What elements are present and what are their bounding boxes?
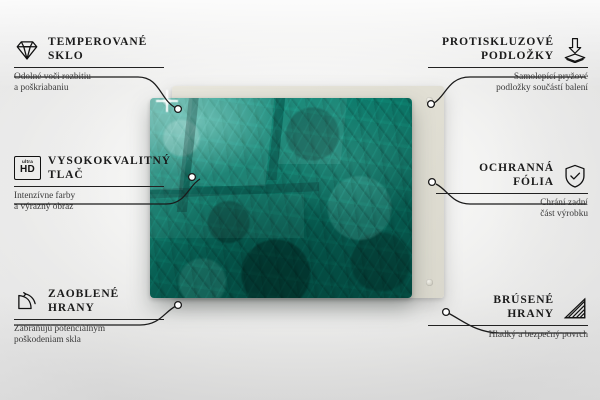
feature-protective-foil: OCHRANNÁ FÓLIA Chrání zadní část výrobku xyxy=(436,162,588,221)
feature-description: Odolné voči rozbitiu a poškriabaniu xyxy=(14,72,164,95)
divider xyxy=(436,193,588,194)
product-image xyxy=(150,86,450,302)
feature-description: Samolepící pryžové podložky součástí bal… xyxy=(428,72,588,95)
infographic-canvas: TEMPEROVANÉ SKLO Odolné voči rozbitiu a … xyxy=(0,0,600,400)
feature-title: OCHRANNÁ FÓLIA xyxy=(479,162,554,189)
feature-anti-slip-pads: PROTISKLUZOVÉ PODLOŽKY Samolepící pryžov… xyxy=(428,36,588,95)
ultra-hd-icon: ultra HD xyxy=(14,156,40,182)
diamond-icon xyxy=(14,37,40,63)
feature-description: Zabraňujú potenciálnym poškodeniam skla xyxy=(14,324,164,347)
divider xyxy=(14,67,164,68)
rubber-pad-bottom-right xyxy=(426,279,433,286)
rubber-pad-top-right xyxy=(426,97,433,104)
divider xyxy=(14,186,164,187)
divider xyxy=(428,325,588,326)
feature-rounded-edges: ZAOBLENÉ HRANY Zabraňujú potenciálnym po… xyxy=(14,288,164,347)
glass-sheen xyxy=(150,98,412,298)
feature-title: ZAOBLENÉ HRANY xyxy=(48,288,119,315)
glass-surface xyxy=(150,98,412,298)
feature-title: TEMPEROVANÉ SKLO xyxy=(48,36,147,63)
anchor-dot-rounded-edges xyxy=(175,302,182,309)
shield-check-icon xyxy=(562,163,588,189)
divider xyxy=(428,67,588,68)
feature-tempered-glass: TEMPEROVANÉ SKLO Odolné voči rozbitiu a … xyxy=(14,36,164,95)
feature-title: VYSOKOKVALITNÝ TLAČ xyxy=(48,155,171,182)
arrow-down-pads-icon xyxy=(562,37,588,63)
feature-description: Chrání zadní část výrobku xyxy=(436,198,588,221)
feature-description: Hladký a bezpečný povrch xyxy=(428,330,588,341)
feature-title: PROTISKLUZOVÉ PODLOŽKY xyxy=(442,36,554,63)
feature-brushed-edges: BRÚSENÉ HRANY Hladký a bezpečný povrch xyxy=(428,294,588,341)
feature-description: Intenzívne farby a výrazný obraz xyxy=(14,191,164,214)
feature-high-quality-print: ultra HD VYSOKOKVALITNÝ TLAČ Intenzívne … xyxy=(14,155,164,214)
ultra-hd-icon-large-text: HD xyxy=(20,165,35,175)
rounded-corner-icon xyxy=(14,289,40,315)
divider xyxy=(14,319,164,320)
hatched-triangle-icon xyxy=(562,295,588,321)
feature-title: BRÚSENÉ HRANY xyxy=(493,294,554,321)
